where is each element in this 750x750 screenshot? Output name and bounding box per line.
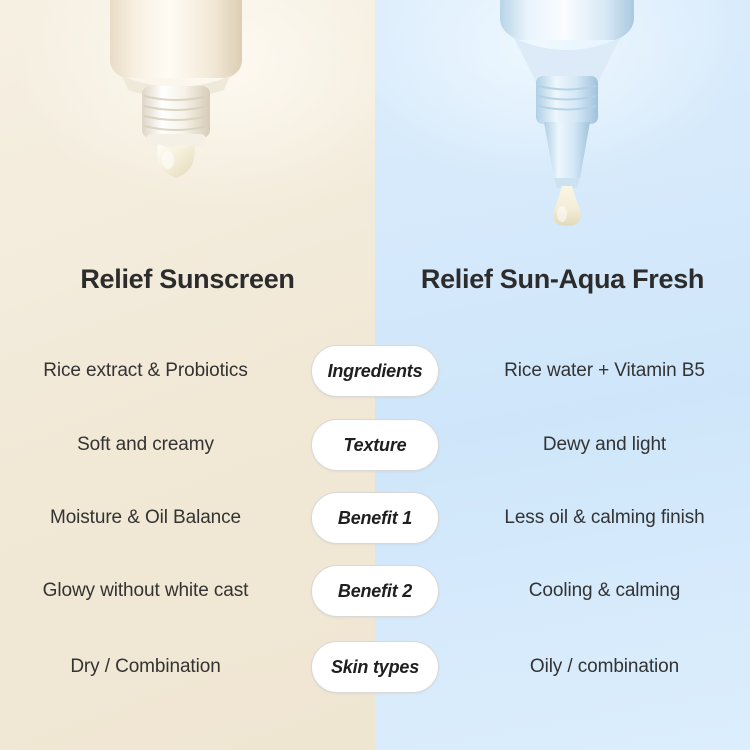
table-row: Glowy without white cast Benefit 2 Cooli…: [0, 563, 750, 619]
table-row: Soft and creamy Texture Dewy and light: [0, 417, 750, 473]
table-row: Moisture & Oil Balance Benefit 1 Less oi…: [0, 490, 750, 546]
right-value: Rice water + Vitamin B5: [455, 360, 750, 382]
right-value: Cooling & calming: [455, 580, 750, 602]
left-value: Moisture & Oil Balance: [0, 507, 295, 529]
left-value: Rice extract & Probiotics: [0, 360, 295, 382]
attribute-pill[interactable]: Ingredients: [311, 345, 439, 397]
left-value: Soft and creamy: [0, 434, 295, 456]
right-value: Oily / combination: [455, 656, 750, 678]
attribute-pill[interactable]: Skin types: [311, 641, 439, 693]
table-row: Rice extract & Probiotics Ingredients Ri…: [0, 343, 750, 399]
attribute-pill[interactable]: Benefit 2: [311, 565, 439, 617]
left-value: Dry / Combination: [0, 656, 295, 678]
product-comparison-infographic: Relief Sunscreen Relief Sun-Aqua Fresh R…: [0, 0, 750, 750]
left-value: Glowy without white cast: [0, 580, 295, 602]
right-value: Less oil & calming finish: [455, 507, 750, 529]
attribute-pill[interactable]: Texture: [311, 419, 439, 471]
right-value: Dewy and light: [455, 434, 750, 456]
attribute-pill[interactable]: Benefit 1: [311, 492, 439, 544]
table-row: Dry / Combination Skin types Oily / comb…: [0, 639, 750, 695]
comparison-rows: Rice extract & Probiotics Ingredients Ri…: [0, 0, 750, 750]
